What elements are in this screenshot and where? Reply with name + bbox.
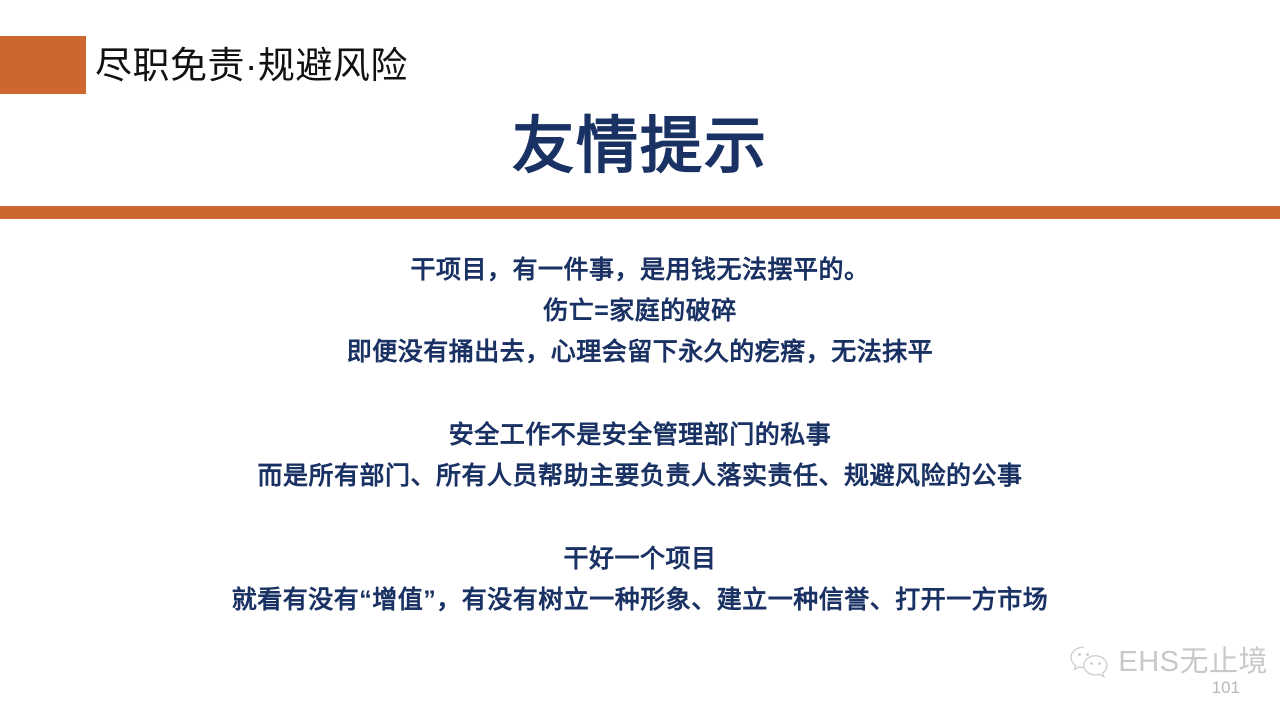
paragraph-block: 安全工作不是安全管理部门的私事 而是所有部门、所有人员帮助主要负责人落实责任、规… (0, 415, 1280, 497)
watermark-label: EHS无止境 (1118, 646, 1268, 678)
body-line: 即便没有捅出去，心理会留下永久的疙瘩，无法抹平 (0, 332, 1280, 373)
divider (0, 206, 1280, 219)
watermark: EHS无止境 101 (1068, 644, 1268, 698)
body-line: 而是所有部门、所有人员帮助主要负责人落实责任、规避风险的公事 (0, 456, 1280, 497)
paragraph-block: 干项目，有一件事，是用钱无法摆平的。 伤亡=家庭的破碎 即便没有捅出去，心理会留… (0, 250, 1280, 373)
header-title: 尽职免责·规避风险 (95, 40, 408, 92)
watermark-row: EHS无止境 (1068, 644, 1268, 680)
body-line: 安全工作不是安全管理部门的私事 (0, 415, 1280, 456)
body-line: 干项目，有一件事，是用钱无法摆平的。 (0, 250, 1280, 291)
body-line: 就看有没有“增值”，有没有树立一种形象、建立一种信誉、打开一方市场 (0, 580, 1280, 621)
page-title: 友情提示 (0, 110, 1280, 184)
body-line: 干好一个项目 (0, 539, 1280, 580)
header-accent-block (0, 36, 86, 94)
body-line: 伤亡=家庭的破碎 (0, 291, 1280, 332)
body-content: 干项目，有一件事，是用钱无法摆平的。 伤亡=家庭的破碎 即便没有捅出去，心理会留… (0, 250, 1280, 621)
wechat-icon (1068, 644, 1112, 680)
slide-canvas: 尽职免责·规避风险 友情提示 干项目，有一件事，是用钱无法摆平的。 伤亡=家庭的… (0, 0, 1280, 720)
page-number: 101 (1212, 678, 1240, 698)
paragraph-block: 干好一个项目 就看有没有“增值”，有没有树立一种形象、建立一种信誉、打开一方市场 (0, 539, 1280, 621)
